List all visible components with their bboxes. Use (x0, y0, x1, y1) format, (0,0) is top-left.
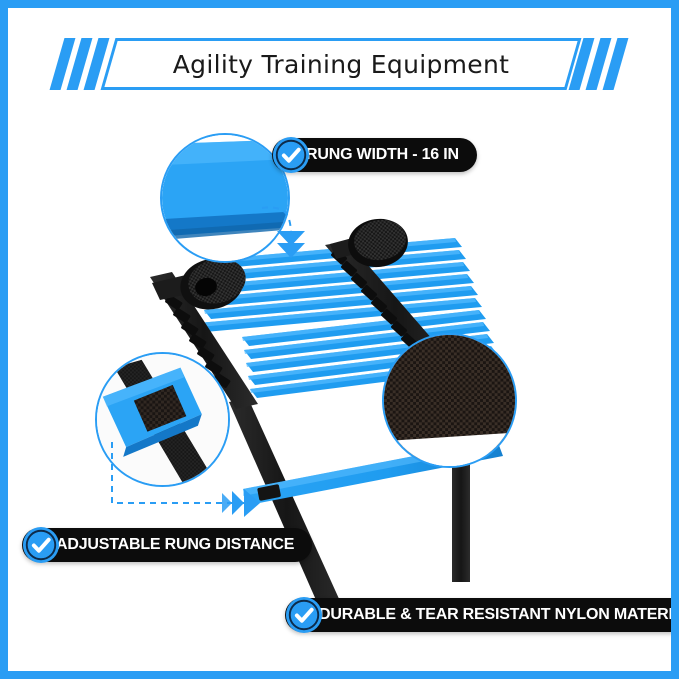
badge-rung-width-label: RUNG WIDTH - 16 IN (306, 146, 459, 164)
badge-durable-nylon-label: DURABLE & TEAR RESISTANT NYLON MATERIAL (319, 606, 679, 624)
badge-adjustable-rung-distance-pill[interactable]: ADJUSTABLE RUNG DISTANCE (22, 528, 312, 562)
badge-adjustable-rung-distance-label: ADJUSTABLE RUNG DISTANCE (56, 536, 294, 554)
check-circle-icon (22, 526, 60, 564)
ladder-side-strap-left (229, 398, 345, 616)
badge-durable-nylon[interactable]: DURABLE & TEAR RESISTANT NYLON MATERIAL (285, 598, 679, 632)
badge-rung-width[interactable]: RUNG WIDTH - 16 IN (272, 138, 477, 172)
check-circle-icon (272, 136, 310, 174)
badge-adjustable-rung-distance[interactable]: ADJUSTABLE RUNG DISTANCE (22, 528, 312, 562)
callout-nylon-weave-closeup (382, 333, 517, 468)
callout-strap-closeup (95, 352, 230, 487)
check-circle-icon (285, 596, 323, 634)
product-illustration (0, 0, 679, 679)
badge-durable-nylon-pill[interactable]: DURABLE & TEAR RESISTANT NYLON MATERIAL (285, 598, 679, 632)
callout-rung-width-closeup (160, 133, 290, 263)
infographic-canvas: Agility Training Equipment RUNG WIDTH - … (0, 0, 679, 679)
